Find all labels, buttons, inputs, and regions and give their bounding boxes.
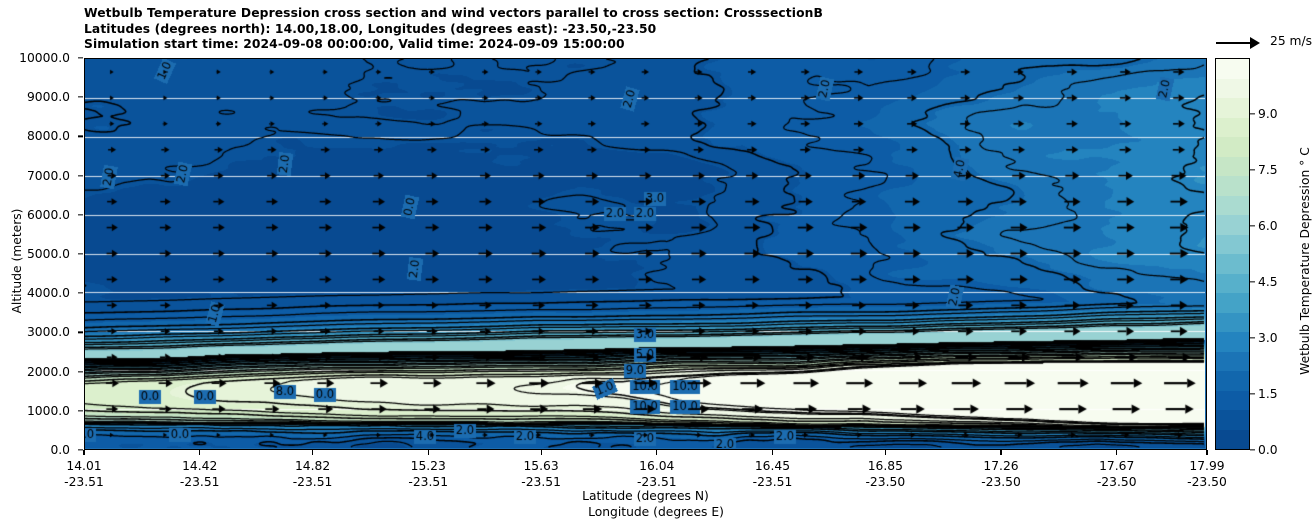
x-tick-latitude: 14.42 <box>180 458 220 474</box>
x-axis-tick-mark <box>885 450 886 455</box>
y-axis-tick-label: 1000.0 <box>27 404 70 418</box>
x-tick-longitude: -23.50 <box>866 474 906 490</box>
colorbar-tick-label: 3.0 <box>1258 331 1278 345</box>
y-axis-tick-mark <box>78 332 83 333</box>
x-axis-tick-mark <box>541 450 542 455</box>
y-axis-tick-label: 4000.0 <box>27 286 70 300</box>
colorbar-tick-mark <box>1250 113 1255 114</box>
wind-vector-key-arrow-icon <box>1216 36 1264 50</box>
x-axis-tick-mark <box>199 450 200 455</box>
vector-key-shaft <box>1216 42 1254 44</box>
colorbar-swatch <box>1216 430 1249 450</box>
wetbulb-depression-field <box>85 59 1205 448</box>
x-tick-latitude: 17.26 <box>981 458 1021 474</box>
y-axis-title: Altitude (meters) <box>10 96 24 426</box>
plot-canvas-layer <box>85 59 1206 449</box>
colorbar-tick-label: 0.0 <box>1258 443 1278 457</box>
x-axis-tick-label: 14.42-23.51 <box>180 458 220 490</box>
colorbar-swatch <box>1216 137 1249 157</box>
y-axis-tick-mark <box>78 175 83 176</box>
x-axis-tick-label: 14.01-23.51 <box>64 458 104 490</box>
x-axis-title-latitude: Latitude (degrees N) <box>0 489 1291 503</box>
colorbar-swatch <box>1216 176 1249 196</box>
colorbar-swatch <box>1216 352 1249 372</box>
colorbar-tick-mark <box>1250 169 1255 170</box>
colorbar-tick-mark <box>1250 281 1255 282</box>
y-axis-tick-label: 3000.0 <box>27 325 70 339</box>
x-axis-tick-mark <box>428 450 429 455</box>
x-tick-latitude: 17.67 <box>1097 458 1137 474</box>
y-axis-tick-label: 5000.0 <box>27 247 70 261</box>
colorbar-swatch <box>1216 391 1249 411</box>
colorbar-swatch <box>1216 293 1249 313</box>
x-tick-longitude: -23.51 <box>521 474 561 490</box>
colorbar-swatch <box>1216 118 1249 138</box>
colorbar-swatch <box>1216 254 1249 274</box>
colorbar-swatch <box>1216 98 1249 118</box>
cross-section-plot-area <box>84 58 1207 450</box>
y-axis-tick-mark <box>78 293 83 294</box>
colorbar-tick-label: 6.0 <box>1258 219 1278 233</box>
colorbar <box>1215 58 1250 450</box>
figure-root: Wetbulb Temperature Depression cross sec… <box>0 0 1312 526</box>
x-axis-tick-label: 17.26-23.50 <box>981 458 1021 490</box>
colorbar-swatch <box>1216 332 1249 352</box>
x-tick-latitude: 15.23 <box>408 458 448 474</box>
x-axis-tick-label: 17.67-23.50 <box>1097 458 1137 490</box>
x-tick-latitude: 14.01 <box>64 458 104 474</box>
x-axis-tick-label: 15.23-23.51 <box>408 458 448 490</box>
y-axis-tick-mark <box>78 57 83 58</box>
colorbar-swatch <box>1216 215 1249 235</box>
x-tick-longitude: -23.51 <box>64 474 104 490</box>
x-axis-tick-mark <box>83 450 84 455</box>
figure-title: Wetbulb Temperature Depression cross sec… <box>84 6 1084 53</box>
x-tick-latitude: 17.99 <box>1187 458 1227 474</box>
colorbar-tick-mark <box>1250 393 1255 394</box>
x-tick-longitude: -23.50 <box>1187 474 1227 490</box>
y-axis-tick-label: 8000.0 <box>27 129 70 143</box>
y-axis-tick-label: 6000.0 <box>27 208 70 222</box>
y-axis-tick-mark <box>78 371 83 372</box>
x-tick-latitude: 16.85 <box>866 458 906 474</box>
colorbar-tick-mark <box>1250 337 1255 338</box>
colorbar-title: Wetbulb Temperature Depression ° C <box>1298 96 1312 426</box>
x-axis-tick-mark <box>1116 450 1117 455</box>
x-axis-tick-mark <box>312 450 313 455</box>
y-axis-tick-label: 7000.0 <box>27 169 70 183</box>
x-axis-tick-label: 16.04-23.51 <box>637 458 677 490</box>
y-axis-tick-label: 9000.0 <box>27 90 70 104</box>
y-axis-tick-mark <box>78 136 83 137</box>
wind-vector-key-label: 25 m/s <box>1270 34 1312 48</box>
x-tick-longitude: -23.51 <box>408 474 448 490</box>
colorbar-tick-label: 9.0 <box>1258 107 1278 121</box>
x-tick-latitude: 16.04 <box>637 458 677 474</box>
colorbar-swatch <box>1216 157 1249 177</box>
x-tick-longitude: -23.51 <box>293 474 333 490</box>
x-axis-tick-label: 14.82-23.51 <box>293 458 333 490</box>
y-axis-tick-mark <box>78 214 83 215</box>
colorbar-swatch <box>1216 59 1249 79</box>
y-axis-tick-mark <box>78 410 83 411</box>
colorbar-swatch <box>1216 410 1249 430</box>
colorbar-tick-label: 4.5 <box>1258 275 1278 289</box>
colorbar-swatch <box>1216 196 1249 216</box>
x-tick-longitude: -23.50 <box>981 474 1021 490</box>
x-axis-tick-label: 15.63-23.51 <box>521 458 561 490</box>
x-tick-longitude: -23.51 <box>637 474 677 490</box>
x-tick-longitude: -23.50 <box>1097 474 1137 490</box>
colorbar-tick-mark <box>1250 449 1255 450</box>
x-tick-longitude: -23.51 <box>180 474 220 490</box>
vector-key-head <box>1250 37 1260 49</box>
x-axis-tick-label: 16.45-23.51 <box>753 458 793 490</box>
y-axis-tick-mark <box>78 97 83 98</box>
x-tick-latitude: 15.63 <box>521 458 561 474</box>
colorbar-tick-label: 7.5 <box>1258 163 1278 177</box>
y-axis-tick-label: 2000.0 <box>27 365 70 379</box>
x-axis-tick-mark <box>1206 450 1207 455</box>
x-axis-tick-mark <box>1000 450 1001 455</box>
y-axis-tick-mark <box>78 253 83 254</box>
x-axis-tick-label: 16.85-23.50 <box>866 458 906 490</box>
x-axis-tick-mark <box>656 450 657 455</box>
y-axis-tick-label: 0.0 <box>50 443 70 457</box>
x-tick-longitude: -23.51 <box>753 474 793 490</box>
colorbar-swatch <box>1216 235 1249 255</box>
x-axis-tick-label: 17.99-23.50 <box>1187 458 1227 490</box>
y-axis-tick-label: 10000.0 <box>19 51 70 65</box>
colorbar-swatch <box>1216 79 1249 99</box>
x-tick-latitude: 16.45 <box>753 458 793 474</box>
y-axis-tick-mark <box>78 449 83 450</box>
x-axis-tick-mark <box>772 450 773 455</box>
title-line-2: Latitudes (degrees north): 14.00,18.00, … <box>84 22 1084 38</box>
colorbar-tick-label: 1.5 <box>1258 387 1278 401</box>
colorbar-swatch <box>1216 274 1249 294</box>
colorbar-swatch <box>1216 371 1249 391</box>
title-line-3: Simulation start time: 2024-09-08 00:00:… <box>84 37 1084 53</box>
colorbar-tick-mark <box>1250 225 1255 226</box>
x-axis-title-longitude: Longitude (degrees E) <box>0 505 1312 519</box>
x-tick-latitude: 14.82 <box>293 458 333 474</box>
title-line-1: Wetbulb Temperature Depression cross sec… <box>84 6 1084 22</box>
colorbar-swatch <box>1216 313 1249 333</box>
